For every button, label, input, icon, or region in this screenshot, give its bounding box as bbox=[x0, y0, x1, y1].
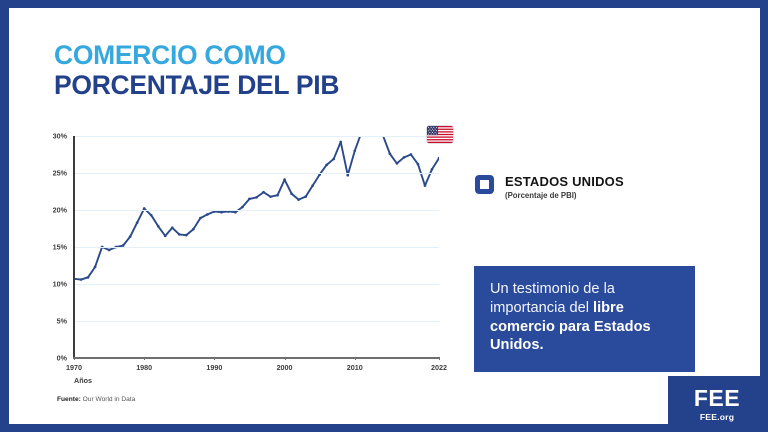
series-data-point bbox=[185, 234, 188, 237]
series-data-point bbox=[178, 233, 181, 236]
x-axis-tick-mark bbox=[144, 357, 145, 360]
series-data-point bbox=[332, 158, 335, 161]
x-axis-tick-mark bbox=[74, 357, 75, 360]
series-data-point bbox=[262, 191, 265, 194]
x-axis-tick-mark bbox=[214, 357, 215, 360]
legend-sublabel: (Porcentaje de PBI) bbox=[505, 191, 624, 200]
series-data-point bbox=[248, 198, 251, 201]
series-data-point bbox=[311, 184, 314, 187]
y-axis-tick-label: 10% bbox=[53, 280, 67, 289]
series-data-point bbox=[417, 163, 420, 166]
title-line-1: COMERCIO COMO bbox=[54, 40, 339, 70]
series-data-point bbox=[431, 168, 434, 171]
series-data-point bbox=[136, 221, 139, 224]
x-axis-tick-mark bbox=[355, 357, 356, 360]
y-axis-line bbox=[73, 136, 75, 358]
y-axis-tick-label: 25% bbox=[53, 169, 67, 178]
grid-line bbox=[74, 210, 439, 211]
series-data-point bbox=[325, 164, 328, 167]
x-axis-tick-label: 1980 bbox=[136, 363, 152, 372]
series-data-point bbox=[290, 192, 293, 195]
x-axis-tick-mark bbox=[285, 357, 286, 360]
source-note: Fuente: Our World in Data bbox=[57, 396, 135, 403]
series-data-point bbox=[346, 174, 349, 177]
legend-label: ESTADOS UNIDOS bbox=[505, 174, 624, 189]
x-axis-tick-label: 2010 bbox=[347, 363, 363, 372]
fee-logo-main: FEE bbox=[694, 387, 740, 410]
y-axis-tick-label: 20% bbox=[53, 206, 67, 215]
series-data-point bbox=[157, 225, 160, 228]
y-axis-tick-label: 30% bbox=[53, 132, 67, 141]
x-axis-tick-label: 2000 bbox=[277, 363, 293, 372]
series-data-point bbox=[353, 149, 356, 152]
series-data-point bbox=[339, 141, 342, 144]
series-data-point bbox=[283, 178, 286, 181]
chart-legend: ESTADOS UNIDOS (Porcentaje de PBI) bbox=[475, 174, 624, 200]
x-axis-tick-label: 2022 bbox=[431, 363, 447, 372]
source-label: Fuente: bbox=[57, 396, 81, 403]
legend-swatch-icon bbox=[475, 175, 494, 194]
fee-logo-sub: FEE.org bbox=[700, 412, 734, 422]
series-data-point bbox=[150, 214, 153, 217]
series-data-point bbox=[297, 198, 300, 201]
series-data-point bbox=[276, 194, 279, 197]
x-axis-ticks: 197019801990200020102022 bbox=[74, 360, 439, 382]
series-data-point bbox=[206, 213, 209, 216]
callout-text: Un testimonio de la importancia del libr… bbox=[490, 280, 679, 355]
series-data-point bbox=[87, 276, 90, 279]
line-chart: 0%5%10%15%20%25%30% 19701980199020002010… bbox=[39, 126, 459, 371]
series-data-point bbox=[424, 184, 427, 187]
y-axis-tick-label: 15% bbox=[53, 243, 67, 252]
series-data-point bbox=[171, 226, 174, 229]
slide-canvas: COMERCIO COMO PORCENTAJE DEL PIB 0%5%10%… bbox=[9, 8, 760, 424]
series-data-point bbox=[192, 228, 195, 231]
series-line bbox=[74, 136, 439, 280]
x-axis-tick-label: 1990 bbox=[206, 363, 222, 372]
series-data-point bbox=[164, 235, 167, 238]
series-data-point bbox=[129, 235, 132, 238]
series-data-point bbox=[94, 266, 97, 269]
series-data-point bbox=[108, 249, 111, 252]
x-axis-tick-label: 1970 bbox=[66, 363, 82, 372]
title-line-2: PORCENTAJE DEL PIB bbox=[54, 70, 339, 100]
grid-line bbox=[74, 284, 439, 285]
series-data-point bbox=[410, 153, 413, 156]
source-value: Our World in Data bbox=[83, 396, 136, 403]
grid-line bbox=[74, 247, 439, 248]
series-data-point bbox=[241, 206, 244, 209]
series-data-point bbox=[255, 196, 258, 199]
callout-box: Un testimonio de la importancia del libr… bbox=[474, 266, 695, 372]
series-data-point bbox=[396, 162, 399, 165]
series-data-point bbox=[269, 195, 272, 198]
series-data-point bbox=[389, 152, 392, 155]
grid-line bbox=[74, 173, 439, 174]
series-data-point bbox=[403, 156, 406, 159]
fee-logo[interactable]: FEE FEE.org bbox=[668, 376, 760, 432]
x-axis-line bbox=[73, 357, 440, 359]
series-data-point bbox=[220, 211, 223, 214]
us-flag-icon bbox=[427, 126, 453, 143]
grid-line bbox=[74, 136, 439, 137]
y-axis-tick-label: 5% bbox=[57, 317, 67, 326]
y-axis-tick-label: 0% bbox=[57, 354, 67, 363]
series-data-point bbox=[80, 278, 83, 281]
x-axis-tick-mark bbox=[439, 357, 440, 360]
slide-frame: COMERCIO COMO PORCENTAJE DEL PIB 0%5%10%… bbox=[0, 0, 768, 432]
grid-line bbox=[74, 321, 439, 322]
series-data-point bbox=[304, 195, 307, 198]
series-data-point bbox=[234, 211, 237, 214]
chart-plot-area bbox=[74, 136, 439, 358]
x-axis-label: Años bbox=[74, 376, 92, 385]
page-title: COMERCIO COMO PORCENTAJE DEL PIB bbox=[54, 40, 339, 100]
series-data-point bbox=[199, 217, 202, 220]
